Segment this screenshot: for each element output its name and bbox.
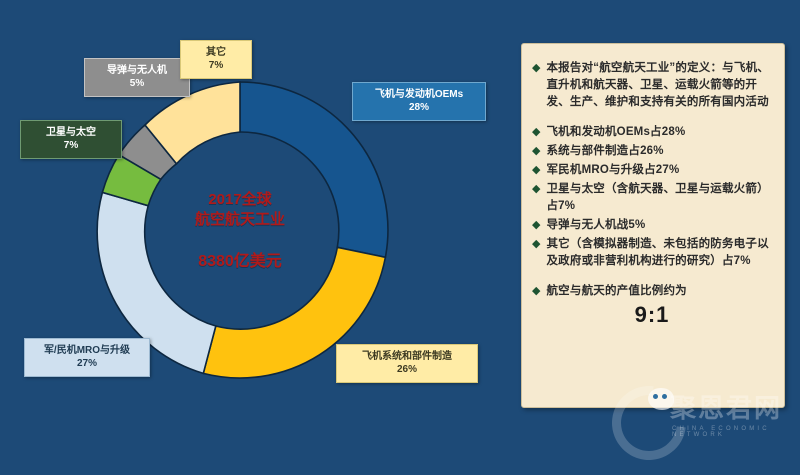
- info-item-mro: ◆ 军民机MRO与升级占27%: [532, 162, 772, 179]
- diamond-bullet-icon: ◆: [532, 236, 540, 253]
- callout-systems[interactable]: 飞机系统和部件制造 26%: [336, 344, 478, 383]
- info-gap-1: [532, 113, 772, 124]
- info-item-oem: ◆ 飞机和发动机OEMs占28%: [532, 124, 772, 141]
- callout-satellite-pct: 7%: [29, 139, 113, 152]
- diamond-bullet-icon: ◆: [532, 162, 540, 179]
- donut-chart: 2017全球 航空航天工业 8380亿美元: [88, 78, 392, 382]
- info-item-oem-text: 飞机和发动机OEMs占28%: [546, 124, 685, 141]
- watermark-brand-en: CHINA ECONOMIC NETWORK: [672, 426, 800, 438]
- callout-other-name: 其它: [206, 47, 226, 58]
- callout-systems-pct: 26%: [345, 363, 469, 376]
- info-gap-2: [532, 272, 772, 283]
- callout-missile-pct: 5%: [93, 77, 181, 90]
- diamond-bullet-icon: ◆: [532, 124, 540, 141]
- donut-chart-svg: [88, 78, 392, 382]
- callout-satellite-name: 卫星与太空: [46, 127, 96, 138]
- info-item-systems-text: 系统与部件制造占26%: [546, 143, 663, 160]
- info-item-systems: ◆ 系统与部件制造占26%: [532, 143, 772, 160]
- callout-mro[interactable]: 军/民机MRO与升级 27%: [24, 338, 150, 377]
- callout-other[interactable]: 其它 7%: [180, 40, 252, 79]
- info-item-other-text: 其它（含模拟器制造、未包括的防务电子以及政府或非营利机构进行的研究）占7%: [546, 236, 772, 270]
- info-panel: ◆ 本报告对“航空航天工业”的定义：与飞机、直升机和航天器、卫星、运载火箭等的开…: [521, 43, 785, 408]
- callout-missile-name: 导弹与无人机: [107, 65, 167, 76]
- diamond-bullet-icon: ◆: [532, 283, 540, 300]
- info-item-definition: ◆ 本报告对“航空航天工业”的定义：与飞机、直升机和航天器、卫星、运载火箭等的开…: [532, 60, 772, 111]
- slide-canvas: 2017全球 航空航天工业 8380亿美元 飞机与发动机OEMs 28% 飞机系…: [0, 0, 800, 450]
- info-item-ratio-text: 航空与航天的产值比例约为: [546, 283, 686, 300]
- diamond-bullet-icon: ◆: [532, 181, 540, 198]
- diamond-bullet-icon: ◆: [532, 217, 540, 234]
- info-item-satellite-text: 卫星与太空（含航天器、卫星与运载火箭）占7%: [546, 181, 772, 215]
- diamond-bullet-icon: ◆: [532, 143, 540, 160]
- info-item-ratio: ◆ 航空与航天的产值比例约为: [532, 283, 772, 300]
- ratio-value: 9:1: [532, 302, 772, 328]
- callout-oem-name: 飞机与发动机OEMs: [375, 89, 463, 100]
- callout-missile[interactable]: 导弹与无人机 5%: [84, 58, 190, 97]
- callout-oem[interactable]: 飞机与发动机OEMs 28%: [352, 82, 486, 121]
- callout-systems-name: 飞机系统和部件制造: [362, 351, 452, 362]
- info-item-satellite: ◆ 卫星与太空（含航天器、卫星与运载火箭）占7%: [532, 181, 772, 215]
- callout-satellite[interactable]: 卫星与太空 7%: [20, 120, 122, 159]
- callout-other-pct: 7%: [189, 59, 243, 72]
- callout-mro-pct: 27%: [33, 357, 141, 370]
- callout-mro-name: 军/民机MRO与升级: [44, 345, 130, 356]
- diamond-bullet-icon: ◆: [532, 60, 540, 77]
- info-item-missile: ◆ 导弹与无人机战5%: [532, 217, 772, 234]
- info-item-other: ◆ 其它（含模拟器制造、未包括的防务电子以及政府或非营利机构进行的研究）占7%: [532, 236, 772, 270]
- info-item-definition-text: 本报告对“航空航天工业”的定义：与飞机、直升机和航天器、卫星、运载火箭等的开发、…: [546, 60, 772, 111]
- info-item-missile-text: 导弹与无人机战5%: [546, 217, 645, 234]
- callout-oem-pct: 28%: [361, 101, 477, 114]
- info-item-mro-text: 军民机MRO与升级占27%: [546, 162, 679, 179]
